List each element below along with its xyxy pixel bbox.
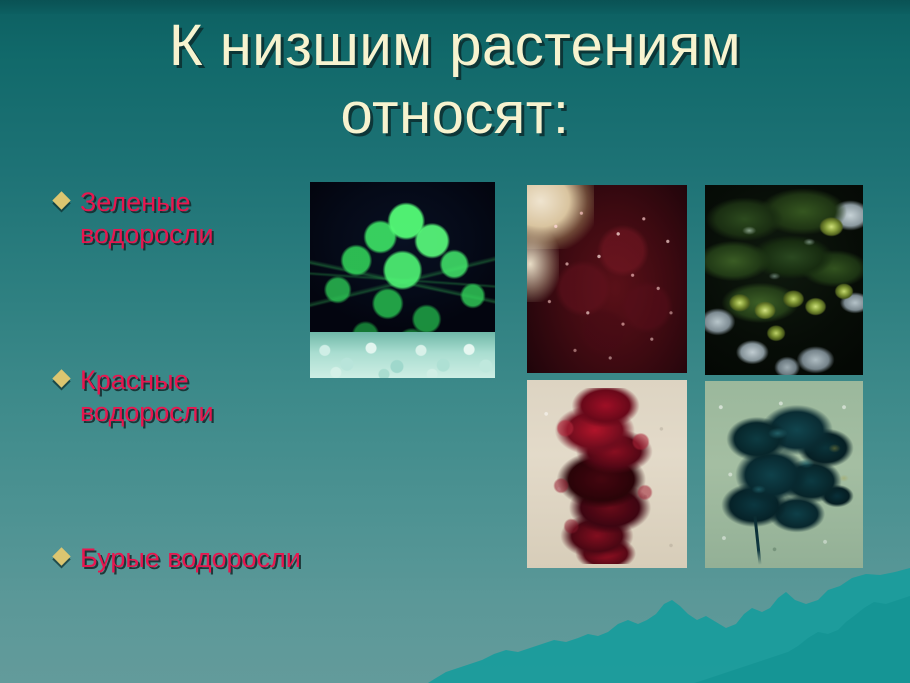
photo-brown-algae-bottom <box>705 381 863 568</box>
photo-detail-gravel <box>310 332 495 378</box>
presentation-slide: К низшим растениям относят: Зеленые водо… <box>0 0 910 683</box>
list-item-red-algae: Красные водоросли <box>55 364 214 428</box>
photo-detail-speckle <box>527 185 687 373</box>
list-item-label: Красные водоросли <box>80 364 214 428</box>
list-item-green-algae: Зеленые водоросли <box>55 186 214 250</box>
diamond-bullet-icon <box>52 369 70 387</box>
list-item-brown-algae: Бурые водоросли <box>55 542 455 574</box>
photo-green-algae <box>310 182 495 378</box>
photo-detail-frond-edge <box>553 391 655 560</box>
page-title: К низшим растениям относят: <box>0 12 910 148</box>
photo-brown-algae-top <box>705 185 863 375</box>
photo-red-algae-bottom <box>527 380 687 568</box>
title-line-2: относят: <box>0 80 910 148</box>
list-item-label: Бурые водоросли <box>80 542 301 574</box>
diamond-bullet-icon <box>52 191 70 209</box>
photo-red-algae-top <box>527 185 687 373</box>
photo-detail-highlights <box>705 185 863 375</box>
list-item-label: Зеленые водоросли <box>80 186 214 250</box>
title-line-1: К низшим растениям <box>0 12 910 80</box>
photo-detail-highlights <box>705 381 863 568</box>
diamond-bullet-icon <box>52 547 70 565</box>
